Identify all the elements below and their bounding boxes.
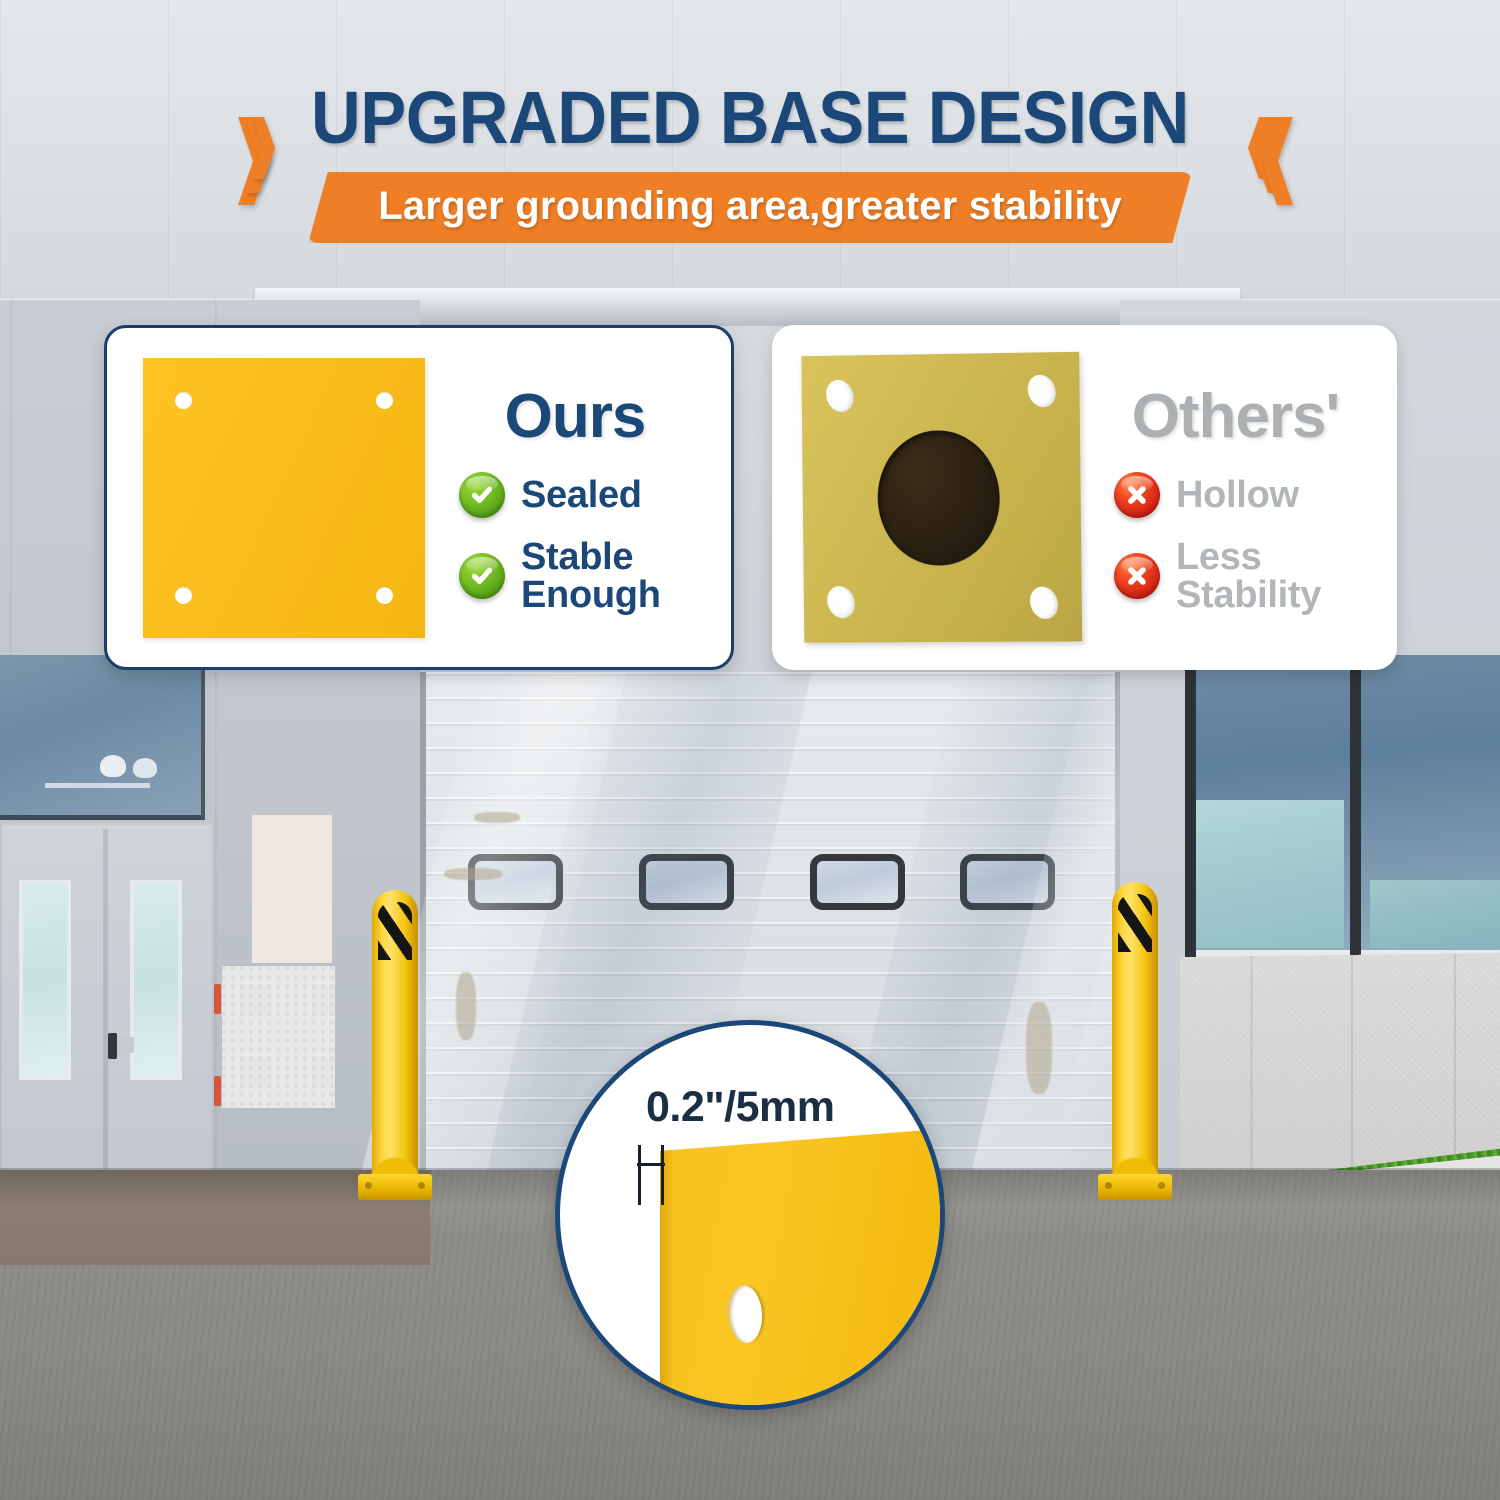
door-glass-pane-left (19, 880, 71, 1080)
bollard-right (1098, 882, 1172, 1200)
window-mullion (1185, 655, 1196, 957)
bolt-hole (823, 582, 860, 622)
ours-heading: Ours (505, 381, 646, 452)
ours-feature-list: Sealed Stable Enough (441, 472, 709, 614)
bolt-hole (175, 587, 192, 604)
bolt-hole (1023, 370, 1060, 411)
thickness-label: 0.2"/5mm (646, 1083, 835, 1132)
comparison-card-ours: Ours Sealed Stable Enough (104, 325, 734, 670)
entrance-double-door (2, 822, 212, 1170)
subtitle-banner: Larger grounding area,greater stability (308, 172, 1192, 243)
bolt-hole (175, 392, 192, 409)
x-circle-icon (1114, 553, 1160, 599)
others-feature-label: Hollow (1176, 476, 1299, 514)
others-feature-item: Less Stability (1114, 538, 1375, 614)
left-upper-window (0, 655, 205, 820)
shutter-window (468, 854, 563, 910)
bolt-hole (1025, 582, 1062, 622)
hazard-stripes (378, 902, 412, 960)
shutter-window (639, 854, 734, 910)
bolt-hole (376, 392, 393, 409)
bollard-left (358, 890, 432, 1200)
door-scuff (474, 812, 520, 823)
ours-base-plate-image (143, 358, 425, 638)
door-scuff (1026, 1002, 1052, 1094)
ours-feature-label: Stable Enough (521, 538, 709, 614)
concrete-block-base (1180, 953, 1500, 1176)
ours-feature-item: Sealed (459, 472, 709, 518)
hazard-stripes (1118, 894, 1152, 952)
check-circle-icon (459, 472, 505, 518)
door-handle (108, 1033, 117, 1059)
thickness-caliper-icon (637, 1145, 667, 1205)
check-circle-icon (459, 553, 505, 599)
others-feature-item: Hollow (1114, 472, 1375, 518)
subtitle-row: Larger grounding area,greater stability (0, 172, 1500, 243)
bolt-hole (822, 375, 859, 415)
infographic-canvas: UPGRADED BASE DESIGN Larger grounding ar… (0, 0, 1500, 1500)
others-feature-label: Less Stability (1176, 538, 1375, 614)
hollow-center-hole (875, 427, 1003, 567)
textured-wall-patch (222, 963, 335, 1108)
bolt-hole (376, 587, 393, 604)
others-card-text: Others' Hollow Less Stability (1080, 381, 1375, 614)
cream-wall-patch (252, 815, 332, 963)
plate-closeup (660, 1126, 945, 1410)
comparison-card-others: Others' Hollow Less Stability (772, 325, 1397, 670)
x-circle-icon (1114, 472, 1160, 518)
door-mullion (103, 829, 108, 1169)
thickness-callout: 0.2"/5mm (555, 1020, 945, 1410)
glass-reflection (1370, 880, 1500, 948)
ours-card-text: Ours Sealed Stable Enough (425, 381, 709, 614)
shutter-window (960, 854, 1055, 910)
shutter-window (810, 854, 905, 910)
others-base-plate-image (801, 351, 1082, 642)
bollard-base-plate (1098, 1174, 1172, 1200)
title-row: UPGRADED BASE DESIGN (0, 62, 1500, 172)
glass-reflection (1196, 800, 1344, 948)
door-glass-pane-right (130, 880, 182, 1080)
door-scuff (456, 972, 476, 1040)
others-feature-list: Hollow Less Stability (1096, 472, 1375, 614)
door-scuff (444, 868, 502, 880)
page-title: UPGRADED BASE DESIGN (311, 75, 1189, 160)
window-mullion (1350, 655, 1361, 957)
ours-feature-label: Sealed (521, 476, 642, 514)
bollard-base-plate (358, 1174, 432, 1200)
others-heading: Others' (1132, 381, 1340, 452)
ours-feature-item: Stable Enough (459, 538, 709, 614)
